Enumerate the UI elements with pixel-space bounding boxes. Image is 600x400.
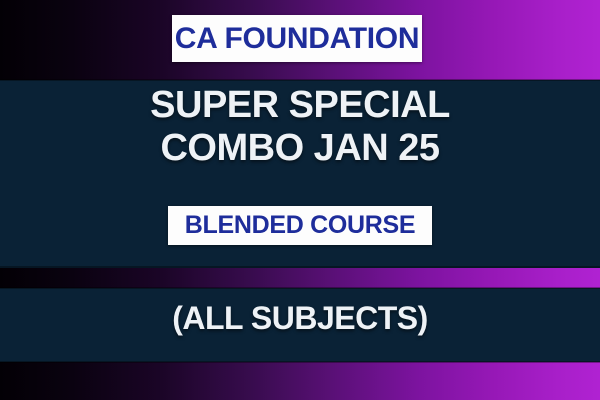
banner-content: CA FOUNDATION SUPER SPECIAL COMBO JAN 25…	[0, 0, 600, 400]
subjects-note: (ALL SUBJECTS)	[0, 300, 600, 336]
promo-banner: CA FOUNDATION SUPER SPECIAL COMBO JAN 25…	[0, 0, 600, 400]
course-mode-badge: BLENDED COURSE	[168, 206, 432, 245]
page-title: SUPER SPECIAL COMBO JAN 25	[0, 84, 600, 171]
headline-line-1: SUPER SPECIAL	[0, 84, 600, 127]
course-level-badge: CA FOUNDATION	[172, 15, 422, 62]
headline-line-2: COMBO JAN 25	[0, 127, 600, 170]
